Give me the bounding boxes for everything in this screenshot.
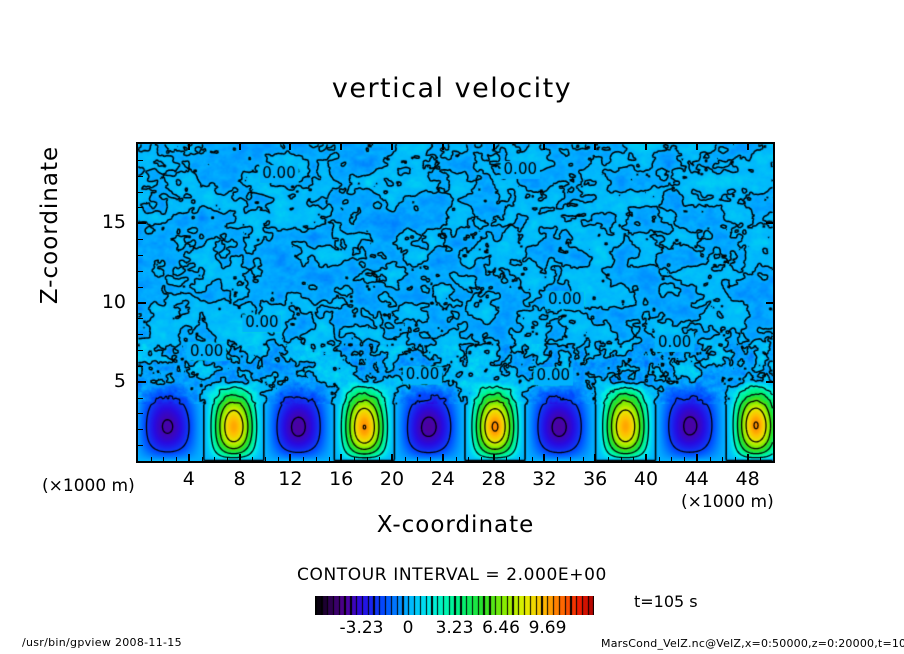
x-axis-minor-tick	[252, 457, 253, 461]
x-axis-tick-label: 36	[573, 468, 617, 490]
y-axis-tick	[138, 222, 146, 224]
x-axis-minor-tick	[163, 457, 164, 461]
x-axis-minor-tick	[214, 457, 215, 461]
x-axis-minor-tick	[405, 457, 406, 461]
x-axis-tick	[747, 454, 749, 461]
vertical-velocity-contour-field	[138, 144, 773, 461]
y-axis-minor-tick	[138, 287, 143, 288]
y-axis-tick-right	[766, 222, 773, 224]
colorbar[interactable]	[315, 596, 594, 615]
x-axis-tick-top	[747, 144, 749, 150]
x-axis-minor-tick	[227, 457, 228, 461]
x-axis-label: X-coordinate	[136, 512, 775, 538]
x-axis-tick-top	[543, 144, 545, 150]
gpview-figure: vertical velocity 4812162024283236404448…	[0, 0, 904, 654]
x-axis-minor-tick	[456, 457, 457, 461]
x-axis-tick	[391, 454, 393, 461]
x-axis-minor-tick	[417, 457, 418, 461]
x-axis-minor-tick	[176, 457, 177, 461]
x-axis-minor-tick	[722, 457, 723, 461]
contour-plot-frame[interactable]	[136, 142, 775, 463]
x-axis-minor-tick	[532, 457, 533, 461]
y-axis-tick-label: 10	[86, 291, 126, 313]
x-axis-minor-tick	[684, 457, 685, 461]
y-axis-tick	[138, 302, 146, 304]
colorbar-tick-label: 9.69	[518, 618, 578, 638]
x-axis-minor-tick	[265, 457, 266, 461]
x-axis-minor-tick	[570, 457, 571, 461]
footer-dataset-info: MarsCond_VelZ.nc@VelZ,x=0:50000,z=0:2000…	[601, 637, 904, 650]
y-axis-tick-label: 5	[86, 370, 126, 392]
x-axis-tick	[543, 454, 545, 461]
x-axis-minor-tick	[430, 457, 431, 461]
y-axis-minor-tick	[138, 239, 143, 240]
y-axis-minor-tick	[138, 429, 143, 430]
x-axis-minor-tick	[481, 457, 482, 461]
x-axis-minor-tick	[468, 457, 469, 461]
x-axis-minor-tick	[519, 457, 520, 461]
x-axis-minor-tick	[621, 457, 622, 461]
y-axis-label: Z-coordinate	[37, 115, 63, 335]
x-axis-tick-label: 44	[675, 468, 719, 490]
x-axis-tick	[493, 454, 495, 461]
y-axis-minor-tick	[138, 192, 143, 193]
x-axis-minor-tick	[367, 457, 368, 461]
time-annotation: t=105 s	[634, 592, 698, 611]
contour-interval-caption: CONTOUR INTERVAL = 2.000E+00	[0, 565, 904, 585]
y-axis-minor-tick	[138, 318, 143, 319]
y-axis-minor-tick	[138, 271, 143, 272]
x-axis-minor-tick	[557, 457, 558, 461]
y-axis-minor-tick	[138, 176, 143, 177]
y-axis-minor-tick	[138, 398, 143, 399]
x-axis-minor-tick	[735, 457, 736, 461]
y-axis-minor-tick	[138, 255, 143, 256]
x-axis-tick-top	[493, 144, 495, 150]
x-axis-tick	[188, 454, 190, 461]
x-axis-minor-tick	[659, 457, 660, 461]
x-axis-tick-label: 16	[319, 468, 363, 490]
x-axis-tick-top	[594, 144, 596, 150]
y-axis-tick-label: 15	[86, 211, 126, 233]
x-axis-tick	[442, 454, 444, 461]
x-axis-tick-label: 4	[167, 468, 211, 490]
footer-command-info: /usr/bin/gpview 2008-11-15	[22, 636, 182, 649]
x-axis-unit-label: (×1000 m)	[681, 492, 774, 512]
x-axis-tick-label: 32	[522, 468, 566, 490]
x-axis-minor-tick	[633, 457, 634, 461]
x-axis-tick-top	[340, 144, 342, 150]
x-axis-minor-tick	[316, 457, 317, 461]
x-axis-tick-label: 20	[370, 468, 414, 490]
x-axis-tick-label: 40	[624, 468, 668, 490]
x-axis-tick	[239, 454, 241, 461]
y-axis-minor-tick	[138, 413, 143, 414]
x-axis-tick-label: 28	[472, 468, 516, 490]
x-axis-minor-tick	[608, 457, 609, 461]
y-axis-minor-tick	[138, 334, 143, 335]
x-axis-tick	[340, 454, 342, 461]
page-title: vertical velocity	[0, 73, 904, 104]
x-axis-minor-tick	[710, 457, 711, 461]
x-axis-tick	[594, 454, 596, 461]
x-axis-tick-top	[391, 144, 393, 150]
x-axis-tick-top	[239, 144, 241, 150]
x-axis-minor-tick	[329, 457, 330, 461]
y-axis-unit-label: (×1000 m)	[42, 476, 135, 496]
x-axis-minor-tick	[583, 457, 584, 461]
colorbar-gradient	[315, 596, 594, 615]
x-axis-tick-label: 12	[268, 468, 312, 490]
x-axis-tick-top	[696, 144, 698, 150]
y-axis-minor-tick	[138, 350, 143, 351]
x-axis-minor-tick	[506, 457, 507, 461]
x-axis-minor-tick	[303, 457, 304, 461]
x-axis-tick-label: 48	[726, 468, 770, 490]
x-axis-minor-tick	[278, 457, 279, 461]
y-axis-tick	[138, 381, 146, 383]
x-axis-tick-top	[645, 144, 647, 150]
x-axis-tick-label: 24	[421, 468, 465, 490]
x-axis-tick	[645, 454, 647, 461]
y-axis-minor-tick	[138, 366, 143, 367]
x-axis-tick	[696, 454, 698, 461]
x-axis-tick-top	[289, 144, 291, 150]
x-axis-tick-top	[442, 144, 444, 150]
x-axis-tick-top	[188, 144, 190, 150]
x-axis-tick-label: 8	[218, 468, 262, 490]
x-axis-minor-tick	[379, 457, 380, 461]
y-axis-minor-tick	[138, 445, 143, 446]
x-axis-tick	[289, 454, 291, 461]
y-axis-tick-right	[766, 302, 773, 304]
y-axis-minor-tick	[138, 207, 143, 208]
x-axis-minor-tick	[671, 457, 672, 461]
x-axis-minor-tick	[354, 457, 355, 461]
x-axis-minor-tick	[760, 457, 761, 461]
y-axis-tick-right	[766, 381, 773, 383]
y-axis-minor-tick	[138, 160, 143, 161]
x-axis-minor-tick	[151, 457, 152, 461]
x-axis-minor-tick	[202, 457, 203, 461]
